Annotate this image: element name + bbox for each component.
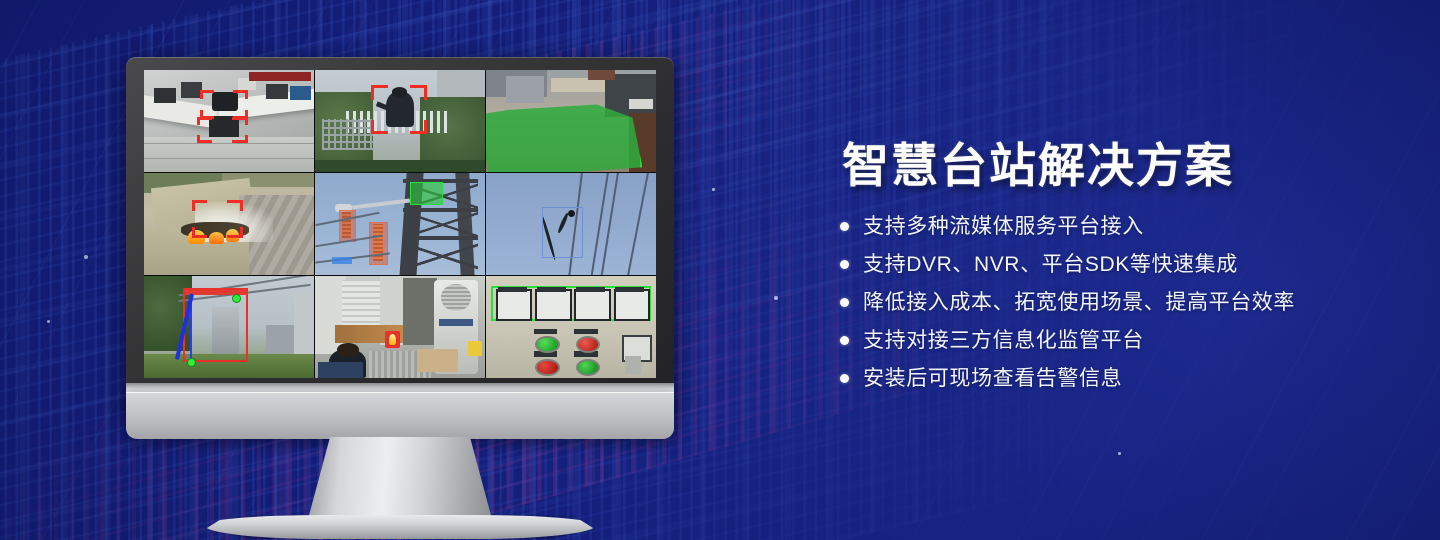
bullet-dot-icon — [840, 298, 849, 307]
feature-list: 支持多种流媒体服务平台接入 支持DVR、NVR、平台SDK等快速集成 降低接入成… — [840, 215, 1400, 390]
list-item: 支持对接三方信息化监管平台 — [840, 329, 1400, 352]
detection-bracket-red — [192, 200, 243, 239]
monitor-stand-base — [204, 515, 596, 539]
camera-cell-site-area[interactable] — [486, 70, 656, 172]
camera-cell-perimeter[interactable] — [315, 70, 485, 172]
feature-text: 降低接入成本、拓宽使用场景、提高平台效率 — [863, 291, 1295, 314]
camera-grid — [144, 70, 656, 378]
camera-cell-powerline[interactable] — [486, 173, 656, 275]
feature-text: 支持DVR、NVR、平台SDK等快速集成 — [863, 253, 1238, 276]
detection-bracket-red — [200, 90, 248, 119]
detection-bracket-red-2 — [197, 117, 248, 144]
list-item: 安装后可现场查看告警信息 — [840, 367, 1400, 390]
tower-debris-green-box — [410, 182, 443, 204]
camera-cell-control-room[interactable] — [144, 70, 314, 172]
list-item: 降低接入成本、拓宽使用场景、提高平台效率 — [840, 291, 1400, 314]
bullet-dot-icon — [840, 222, 849, 231]
monitor-bezel — [126, 57, 674, 411]
desktop-monitor — [126, 57, 674, 495]
monitor-chin — [126, 392, 674, 439]
list-item: 支持DVR、NVR、平台SDK等快速集成 — [840, 253, 1400, 276]
bullet-dot-icon — [840, 260, 849, 269]
banner-content: 智慧台站解决方案 支持多种流媒体服务平台接入 支持DVR、NVR、平台SDK等快… — [840, 140, 1400, 405]
indicator-green-2 — [576, 359, 600, 376]
page-title: 智慧台站解决方案 — [842, 140, 1400, 193]
camera-cell-equipment-room[interactable] — [315, 276, 485, 378]
camera-cell-pole-tilt[interactable] — [144, 276, 314, 378]
bullet-dot-icon — [840, 374, 849, 383]
monitor-stand-neck — [308, 437, 492, 519]
detection-bracket-red — [371, 85, 427, 134]
bullet-dot-icon — [840, 336, 849, 345]
monitor-screen — [144, 70, 656, 378]
list-item: 支持多种流媒体服务平台接入 — [840, 215, 1400, 238]
foreign-object-bounding-box — [542, 207, 583, 258]
camera-cell-fire-smoke[interactable] — [144, 173, 314, 275]
solution-banner: 智慧台站解决方案 支持多种流媒体服务平台接入 支持DVR、NVR、平台SDK等快… — [0, 0, 1440, 540]
indicator-red-2 — [535, 359, 559, 376]
feature-text: 支持对接三方信息化监管平台 — [863, 329, 1144, 352]
feature-text: 安装后可现场查看告警信息 — [863, 367, 1122, 390]
camera-cell-tower-inspection[interactable] — [315, 173, 485, 275]
camera-cell-control-panel[interactable] — [486, 276, 656, 378]
feature-text: 支持多种流媒体服务平台接入 — [863, 215, 1144, 238]
